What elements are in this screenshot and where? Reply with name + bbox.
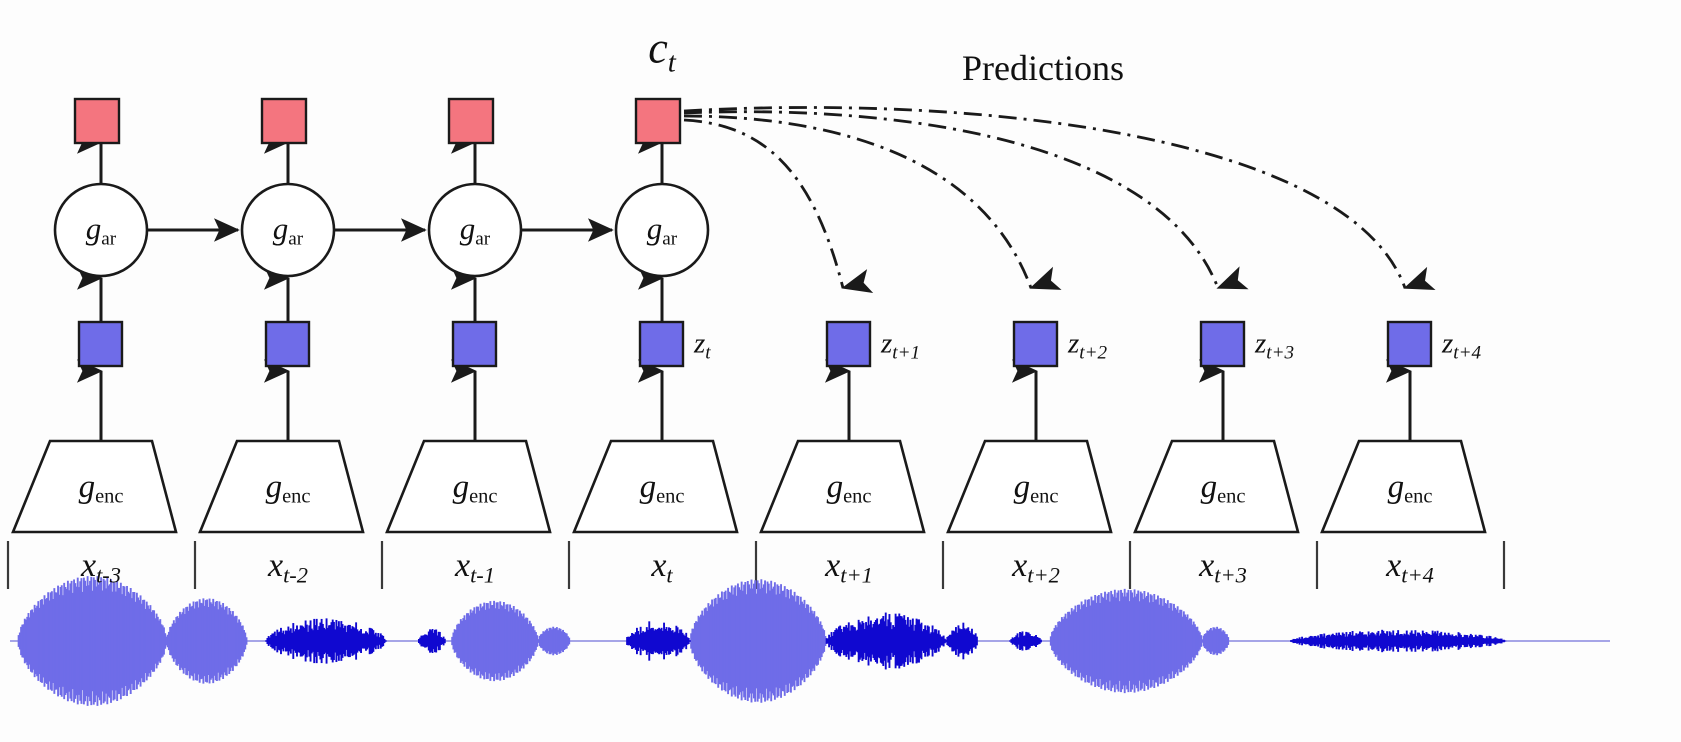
audio-waveform <box>10 576 1610 706</box>
gar-label: gar <box>273 213 303 249</box>
latent-to-autoregressive-arrow-group <box>101 278 662 322</box>
context-vector-box <box>75 99 119 143</box>
latent-label-z-t1: zt+1 <box>881 330 920 363</box>
latent-label-z-t3: zt+3 <box>1255 330 1294 363</box>
timeline-label-x-t2: xt-2 <box>268 549 308 587</box>
prediction-arrow <box>684 120 843 288</box>
timeline-label-x-tp2: xt+2 <box>1012 549 1060 587</box>
encoder-trapezoid-group <box>13 441 1485 532</box>
latent-vector-box <box>79 322 122 366</box>
context-vector-box-ct <box>636 99 680 143</box>
encoder-to-latent-arrow-group <box>101 371 1410 441</box>
latent-label-z-t2: zt+2 <box>1068 330 1107 363</box>
genc-label: genc <box>266 471 311 507</box>
genc-label: genc <box>1201 471 1246 507</box>
genc-label: genc <box>453 471 498 507</box>
latent-vector-group <box>79 322 1431 366</box>
context-vector-box <box>449 99 493 143</box>
latent-vector-box <box>640 322 683 366</box>
gar-label: gar <box>460 213 490 249</box>
timeline-label-x-t1: xt-1 <box>455 549 495 587</box>
latent-vector-box <box>1388 322 1431 366</box>
cpc-architecture-figure: ct Predictions gar gar gar gar genc genc… <box>0 0 1681 742</box>
latent-vector-box <box>453 322 496 366</box>
prediction-arrow <box>684 116 1031 288</box>
timeline-label-x-tp1: xt+1 <box>825 549 873 587</box>
prediction-arrow-group <box>684 107 1405 288</box>
latent-vector-box <box>1014 322 1057 366</box>
latent-vector-box <box>827 322 870 366</box>
timeline-label-x-t3: xt-3 <box>81 549 121 587</box>
diagram-canvas <box>0 0 1681 742</box>
gar-label: gar <box>647 213 677 249</box>
timeline-label-x-t: xt <box>651 549 672 587</box>
prediction-arrow <box>684 107 1405 288</box>
gar-label: gar <box>86 213 116 249</box>
timeline-label-x-tp3: xt+3 <box>1199 549 1247 587</box>
timeline-label-x-tp4: xt+4 <box>1386 549 1434 587</box>
autoregressive-to-context-arrow-group <box>101 142 662 184</box>
genc-label: genc <box>640 471 685 507</box>
latent-vector-box <box>1201 322 1244 366</box>
latent-label-z-t4: zt+4 <box>1442 330 1481 363</box>
page-title: ct <box>648 27 676 78</box>
latent-label-z-t: zt <box>694 330 711 363</box>
genc-label: genc <box>1388 471 1433 507</box>
predictions-label: Predictions <box>962 50 1124 86</box>
genc-label: genc <box>1014 471 1059 507</box>
genc-label: genc <box>827 471 872 507</box>
latent-vector-box <box>266 322 309 366</box>
context-vector-box <box>262 99 306 143</box>
context-vector-group <box>75 99 680 143</box>
genc-label: genc <box>79 471 124 507</box>
